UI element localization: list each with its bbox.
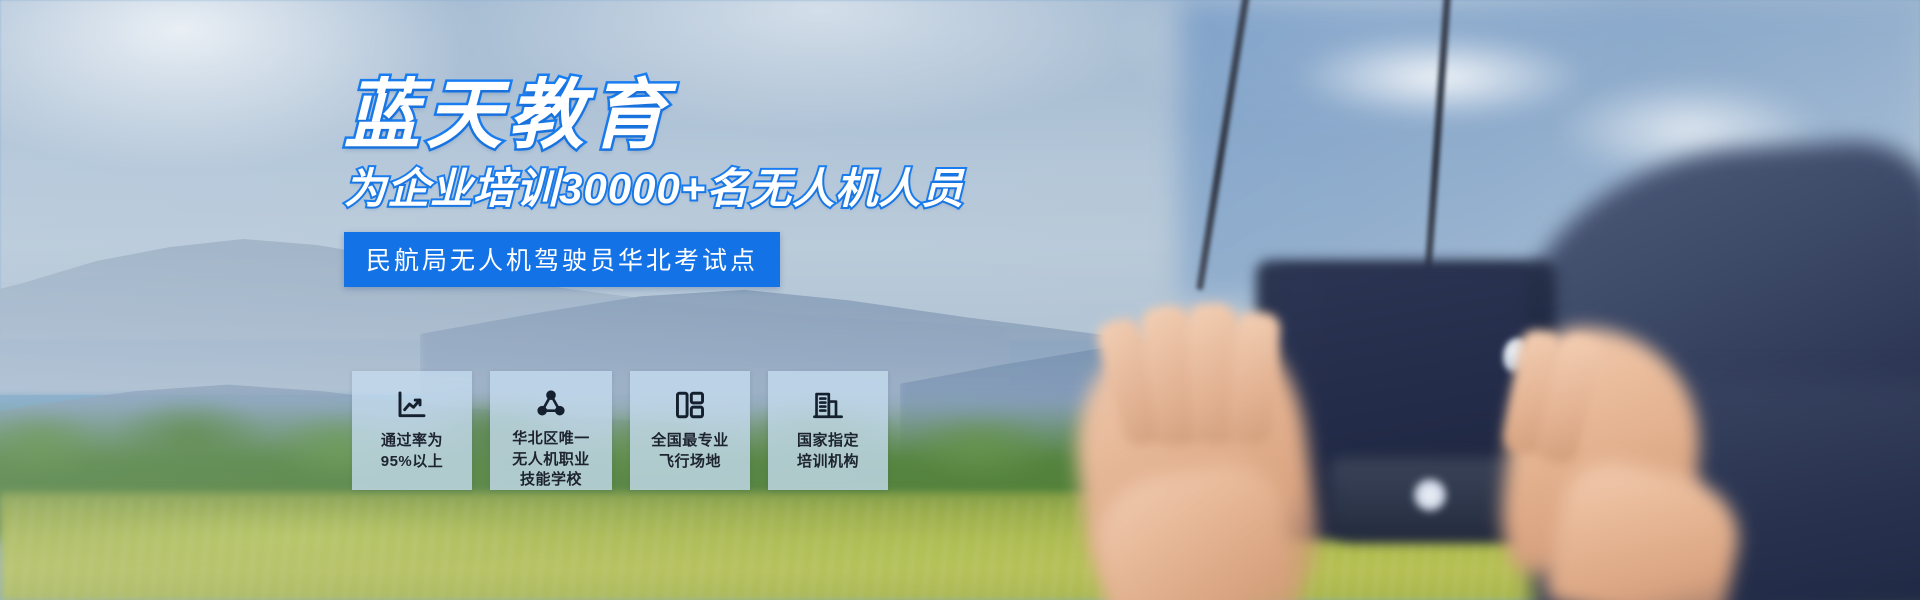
feature-card-line1: 通过率为 [381, 431, 444, 452]
feature-card-line1: 华北区唯一 [512, 429, 590, 450]
feature-card-line1: 全国最专业 [651, 431, 729, 452]
feature-card-text: 通过率为 95%以上 [381, 431, 444, 472]
feature-card-national-institution[interactable]: 国家指定 培训机构 [768, 371, 888, 490]
certification-badge: 民航局无人机驾驶员华北考试点 [344, 232, 780, 287]
feature-card-text: 国家指定 培训机构 [797, 431, 859, 472]
feature-card-text: 华北区唯一 无人机职业 技能学校 [512, 429, 590, 491]
layout-dashboard-icon [673, 388, 707, 422]
feature-card-text: 全国最专业 飞行场地 [651, 431, 729, 472]
hero-subtitle: 为企业培训30000+名无人机人员 [344, 168, 1044, 210]
building-icon [811, 388, 845, 422]
feature-card-line2: 95%以上 [381, 452, 444, 473]
brand-title: 蓝天教育 [344, 78, 1044, 154]
feature-card-line2: 无人机职业 [512, 450, 590, 471]
feature-card-only-school[interactable]: 华北区唯一 无人机职业 技能学校 [490, 371, 612, 490]
hero-banner: 蓝天教育 为企业培训30000+名无人机人员 民航局无人机驾驶员华北考试点 通过… [0, 0, 1920, 600]
feature-card-flight-field[interactable]: 全国最专业 飞行场地 [630, 371, 750, 490]
chart-trending-up-icon [395, 388, 429, 422]
feature-card-line2: 培训机构 [797, 452, 859, 473]
feature-card-pass-rate[interactable]: 通过率为 95%以上 [352, 371, 472, 490]
hero-text-block: 蓝天教育 为企业培训30000+名无人机人员 民航局无人机驾驶员华北考试点 [344, 78, 1044, 287]
feature-card-list: 通过率为 95%以上 华北区唯一 无人机职业 技能学校 [352, 371, 888, 490]
feature-card-line2: 飞行场地 [651, 452, 729, 473]
network-nodes-icon [534, 388, 568, 420]
controller-light [1413, 478, 1447, 512]
feature-card-line3: 技能学校 [512, 470, 590, 491]
feature-card-line1: 国家指定 [797, 431, 859, 452]
